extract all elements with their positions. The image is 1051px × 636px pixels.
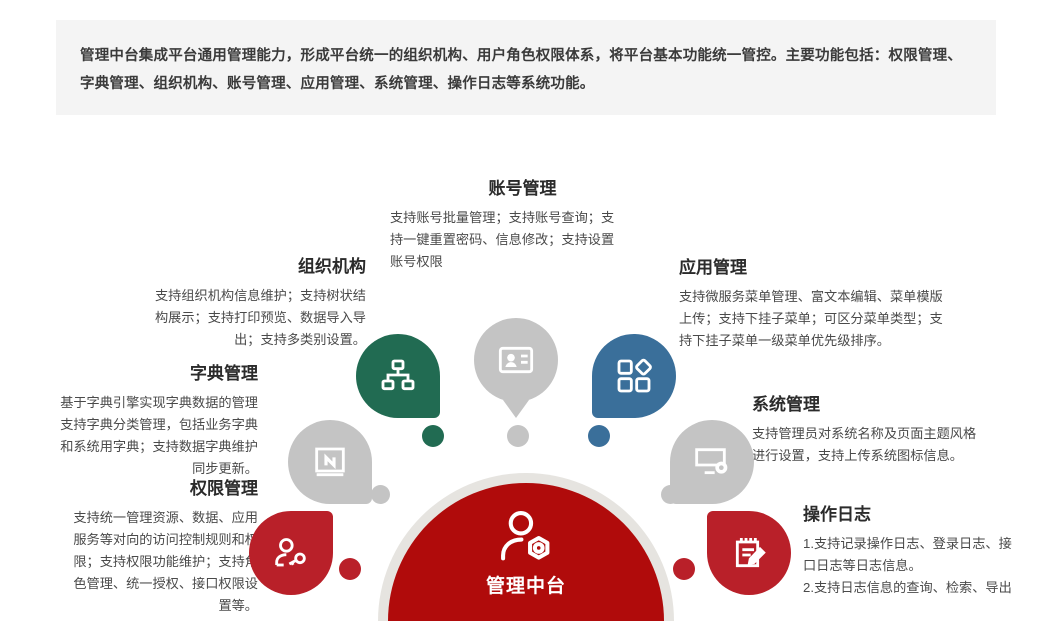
- accent-dot-app: [588, 425, 610, 447]
- pin-bubble-perm: [249, 511, 333, 595]
- accent-dot-log: [673, 558, 695, 580]
- pin-bubble-sys: [670, 420, 754, 504]
- node-title-account: 账号管理: [390, 178, 655, 200]
- infographic-canvas: 管理中台集成平台通用管理能力，形成平台统一的组织机构、用户角色权限体系，将平台基…: [0, 0, 1051, 636]
- pin-bubble-account: [474, 318, 558, 402]
- id-card-icon: [496, 340, 536, 380]
- node-title-app: 应用管理: [679, 257, 1009, 279]
- user-key-icon: [271, 533, 311, 573]
- apps-grid-icon: [614, 356, 654, 396]
- node-desc-perm: 支持统一管理资源、数据、应用 服务等对向的访问控制规则和权 限；支持权限功能维护…: [8, 507, 258, 617]
- hub[interactable]: 管理中台: [388, 483, 664, 621]
- node-text-log: 操作日志 1.支持记录操作日志、登录日志、接 口日志等日志信息。 2.支持日志信…: [803, 504, 1045, 599]
- pin-bubble-dict: [288, 420, 372, 504]
- pin-sys[interactable]: [670, 420, 754, 504]
- node-text-account: 账号管理 支持账号批量管理；支持账号查询；支 持一键重置密码、信息修改；支持设置…: [390, 178, 655, 273]
- node-desc-sys: 支持管理员对系统名称及页面主题风格 进行设置，支持上传系统图标信息。: [752, 423, 1032, 467]
- accent-dot-account: [507, 425, 529, 447]
- node-title-dict: 字典管理: [8, 363, 258, 385]
- node-desc-account: 支持账号批量管理；支持账号查询；支 持一键重置密码、信息修改；支持设置 账号权限: [390, 207, 655, 273]
- pin-org[interactable]: [356, 334, 440, 418]
- accent-dot-dict: [371, 485, 390, 504]
- summary-banner: 管理中台集成平台通用管理能力，形成平台统一的组织机构、用户角色权限体系，将平台基…: [56, 20, 996, 115]
- node-desc-app: 支持微服务菜单管理、富文本编辑、菜单模版 上传；支持下挂子菜单；可区分菜单类型；…: [679, 286, 1009, 352]
- node-text-app: 应用管理 支持微服务菜单管理、富文本编辑、菜单模版 上传；支持下挂子菜单；可区分…: [679, 257, 1009, 352]
- node-title-perm: 权限管理: [8, 478, 258, 500]
- node-title-log: 操作日志: [803, 504, 1045, 526]
- pin-app[interactable]: [592, 334, 676, 418]
- accent-dot-org: [422, 425, 444, 447]
- pin-account[interactable]: [474, 318, 558, 402]
- pin-log[interactable]: [707, 511, 791, 595]
- pin-bubble-app: [592, 334, 676, 418]
- node-desc-org: 支持组织机构信息维护；支持树状结 构展示；支持打印预览、数据导入导 出；支持多类…: [108, 285, 366, 351]
- node-text-perm: 权限管理 支持统一管理资源、数据、应用 服务等对向的访问控制规则和权 限；支持权…: [8, 478, 258, 617]
- notepad-pencil-icon: [729, 533, 769, 573]
- sitemap-icon: [378, 356, 418, 396]
- pin-perm[interactable]: [249, 511, 333, 595]
- user-gear-icon: [495, 509, 557, 565]
- accent-dot-perm: [339, 558, 361, 580]
- pin-bubble-log: [707, 511, 791, 595]
- node-text-org: 组织机构 支持组织机构信息维护；支持树状结 构展示；支持打印预览、数据导入导 出…: [108, 256, 366, 351]
- dictionary-book-icon: [310, 442, 350, 482]
- node-desc-dict: 基于字典引擎实现字典数据的管理 支持字典分类管理，包括业务字典 和系统用字典；支…: [8, 392, 258, 480]
- monitor-gear-icon: [692, 442, 732, 482]
- node-text-dict: 字典管理 基于字典引擎实现字典数据的管理 支持字典分类管理，包括业务字典 和系统…: [8, 363, 258, 480]
- pin-bubble-org: [356, 334, 440, 418]
- hub-label: 管理中台: [486, 571, 566, 598]
- node-title-org: 组织机构: [108, 256, 366, 278]
- summary-banner-text: 管理中台集成平台通用管理能力，形成平台统一的组织机构、用户角色权限体系，将平台基…: [80, 42, 972, 98]
- node-title-sys: 系统管理: [752, 394, 1032, 416]
- pin-tail-account: [503, 400, 529, 418]
- node-text-sys: 系统管理 支持管理员对系统名称及页面主题风格 进行设置，支持上传系统图标信息。: [752, 394, 1032, 467]
- pin-dict[interactable]: [288, 420, 372, 504]
- node-desc-log: 1.支持记录操作日志、登录日志、接 口日志等日志信息。 2.支持日志信息的查询、…: [803, 533, 1045, 599]
